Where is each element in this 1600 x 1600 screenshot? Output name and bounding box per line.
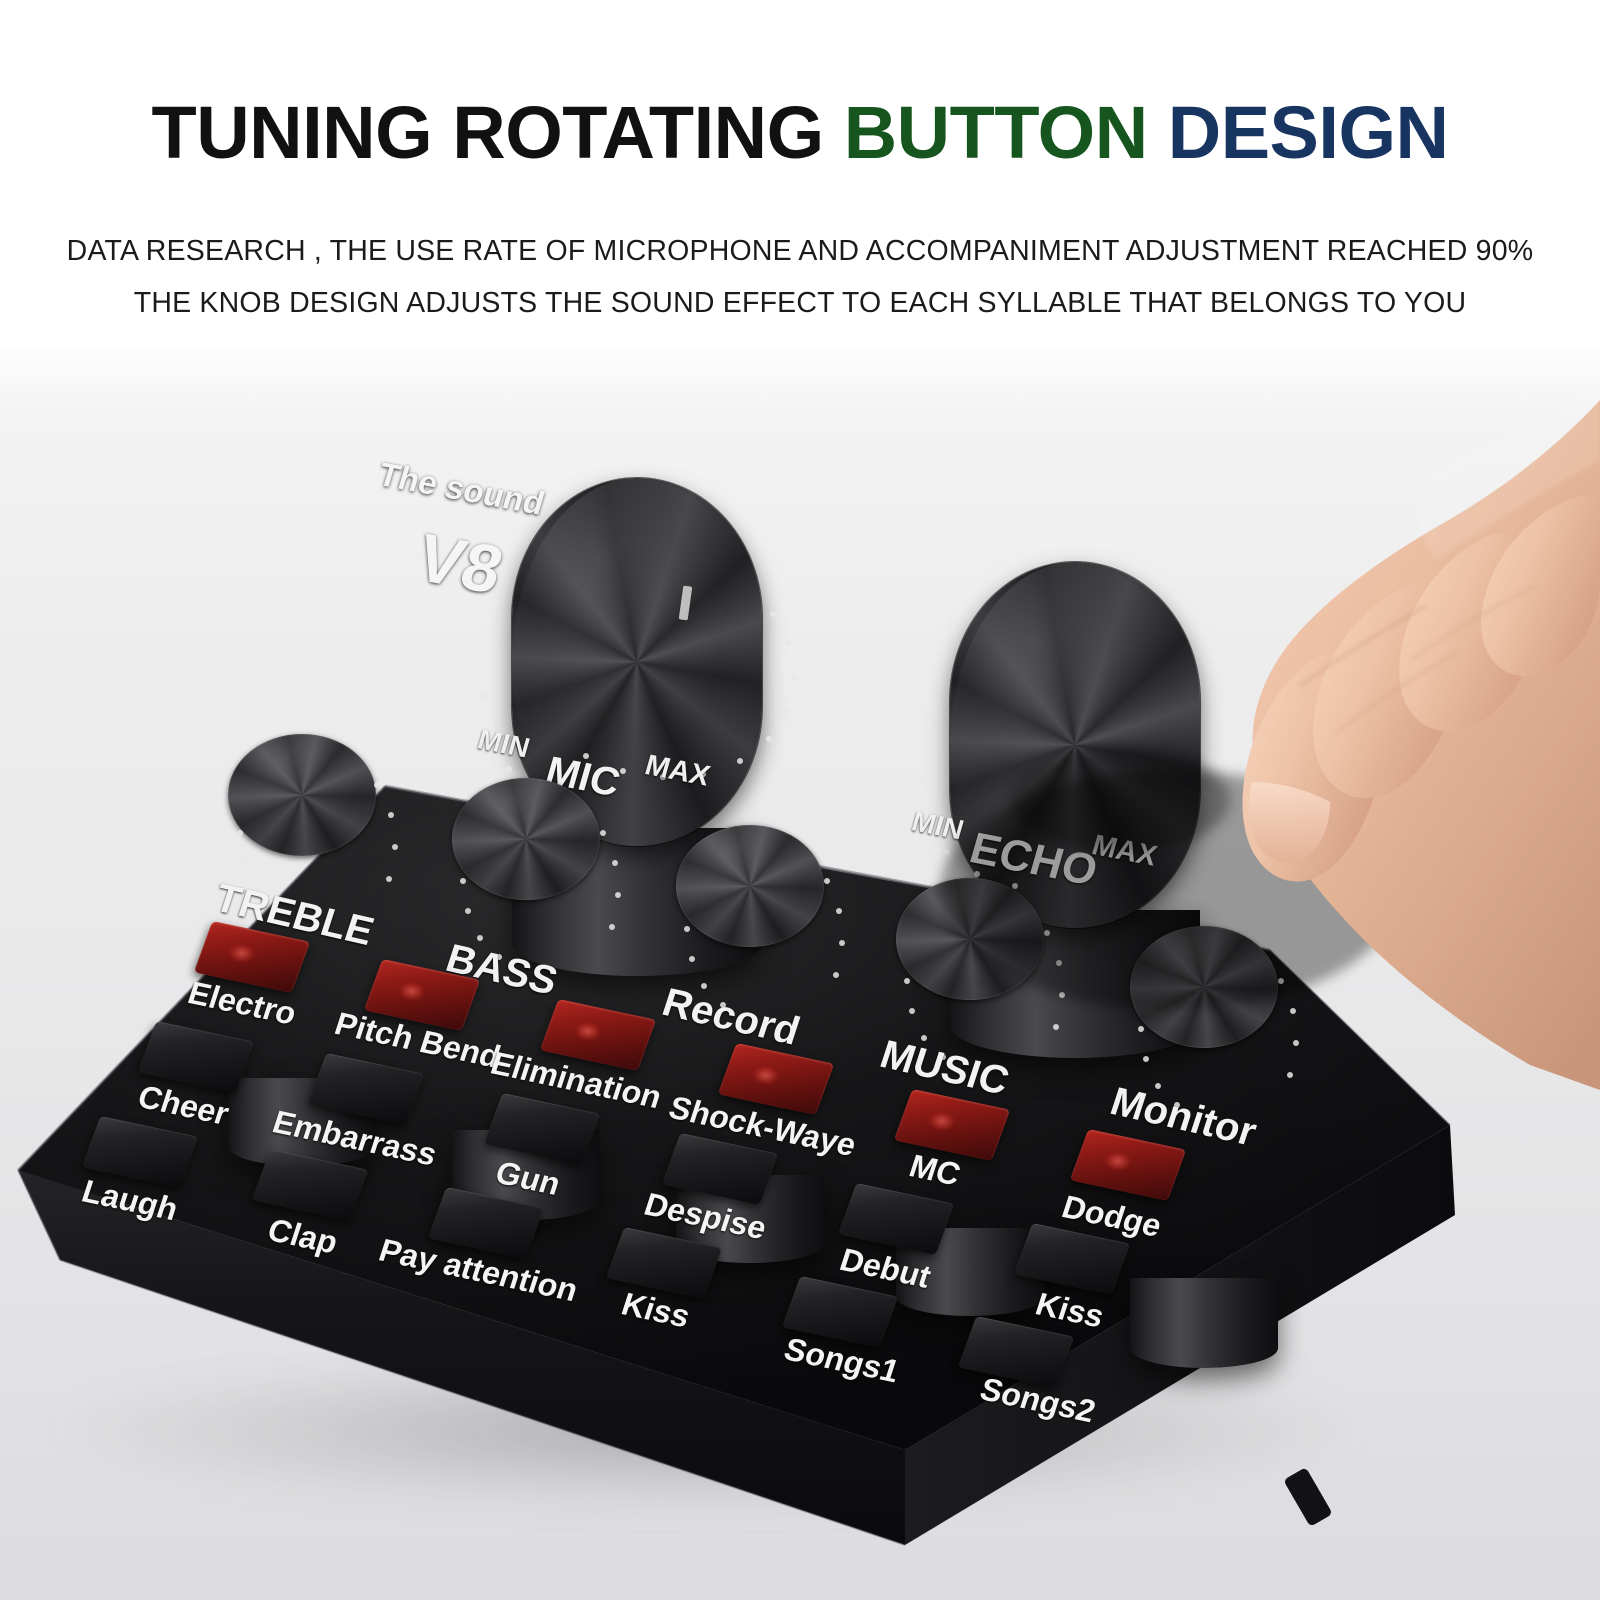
- power-led-icon: [1298, 710, 1356, 768]
- title-word-button: BUTTON: [844, 91, 1148, 174]
- knob-record-cap: [676, 825, 824, 947]
- product-marketing-image: TUNING ROTATING BUTTON DESIGN DATA RESEA…: [0, 0, 1600, 1600]
- knob-music-cap: [896, 878, 1044, 1000]
- page-title: TUNING ROTATING BUTTON DESIGN: [0, 96, 1600, 170]
- subtitle-line-2: THE KNOB DESIGN ADJUSTS THE SOUND EFFECT…: [0, 287, 1600, 320]
- product-photo: The sound V8 MIN MIC: [0, 330, 1600, 1600]
- knob-monitor-cap: [1130, 926, 1278, 1048]
- title-word-rotating: ROTATING: [452, 91, 823, 174]
- knob-monitor-body: [1130, 1278, 1278, 1368]
- subtitle-line-1: DATA RESEARCH , THE USE RATE OF MICROPHO…: [0, 235, 1600, 268]
- knob-treble-cap: [228, 734, 376, 856]
- header-band: TUNING ROTATING BUTTON DESIGN DATA RESEA…: [0, 0, 1600, 350]
- title-word-design: DESIGN: [1168, 91, 1449, 174]
- title-word-tuning: TUNING: [152, 91, 433, 174]
- knob-bass-cap: [452, 778, 600, 900]
